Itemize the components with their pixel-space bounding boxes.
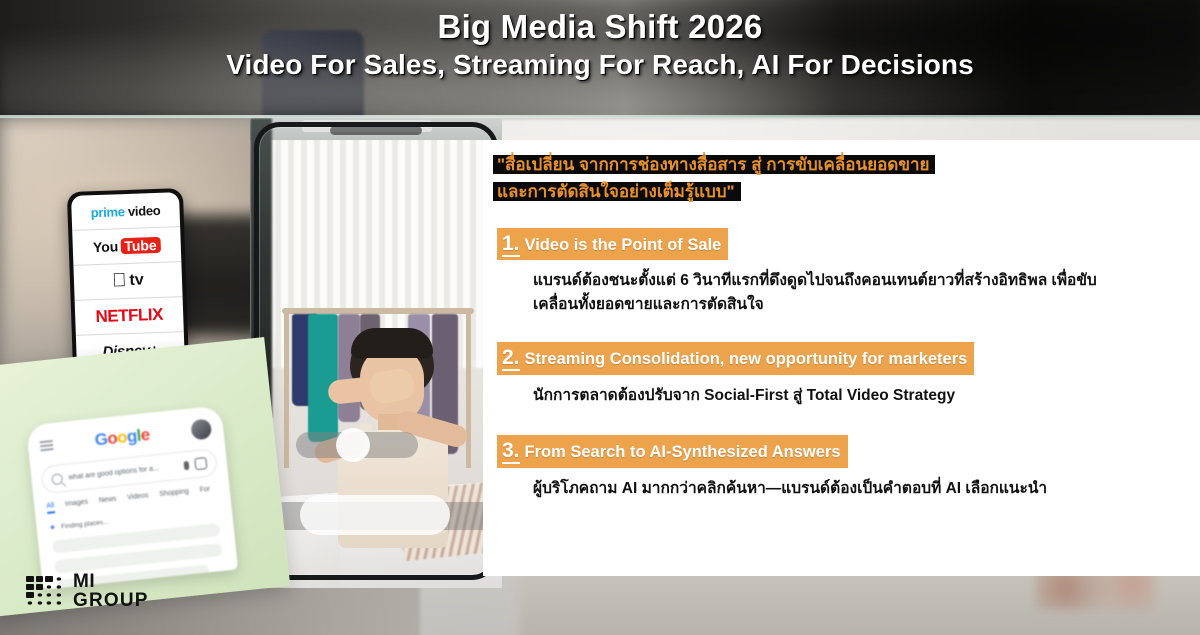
apple-tv-logo-text: tv xyxy=(129,271,144,289)
google-search-phone: Google what are good options for a... Al… xyxy=(26,405,238,590)
header-text-block: Big Media Shift 2026 Video For Sales, St… xyxy=(0,0,1200,81)
point-1-heading-text: Video is the Point of Sale xyxy=(525,236,722,254)
point-1-body: แบรนด์ต้องชนะตั้งแต่ 6 วินาทีแรกที่ดึงดู… xyxy=(533,269,1133,316)
point-3-heading-text: From Search to AI-Synthesized Answers xyxy=(525,443,841,461)
logo-cell xyxy=(56,586,60,589)
logo-cell xyxy=(37,602,41,605)
point-item-2: 2.Streaming Consolidation, new opportuni… xyxy=(497,342,1200,407)
tab-videos[interactable]: Videos xyxy=(127,492,149,505)
youtube-logo-text-a: You xyxy=(93,238,119,255)
tab-all[interactable]: All xyxy=(46,502,55,514)
logo-cell xyxy=(56,578,60,581)
point-1-heading: 1.Video is the Point of Sale xyxy=(497,228,728,261)
search-icon xyxy=(51,473,63,485)
youtube-logo: YouTube xyxy=(93,237,161,255)
logo-cell xyxy=(47,602,51,605)
search-query-text: what are good options for a... xyxy=(68,463,178,481)
point-3-number: 3. xyxy=(502,439,520,464)
logo-cell xyxy=(36,576,44,582)
page-subtitle: Video For Sales, Streaming For Reach, AI… xyxy=(0,49,1200,81)
brand-line-2: GROUP xyxy=(73,591,149,610)
point-2-number: 2. xyxy=(502,346,520,371)
streaming-logos-screen: prime video YouTube tv NETFLIX Disney+ xyxy=(71,192,185,370)
point-1-number: 1. xyxy=(502,232,520,257)
logo-prime-video: prime video xyxy=(71,192,180,231)
mi-group-logo-mark xyxy=(26,576,62,606)
apple-tv-logo: tv xyxy=(112,269,144,292)
content-panel: "สื่อเปลี่ยน จากการช่องทางสื่อสาร สู่ กา… xyxy=(483,140,1200,576)
logo-apple-tv: tv xyxy=(73,262,182,301)
prime-video-logo: prime video xyxy=(90,202,160,219)
brand-line-1: MI xyxy=(73,572,149,591)
google-logo-letter: e xyxy=(140,425,151,445)
page-title: Big Media Shift 2026 xyxy=(0,8,1200,46)
avatar[interactable] xyxy=(190,418,212,440)
microphone-icon[interactable] xyxy=(183,460,189,469)
point-2-heading-text: Streaming Consolidation, new opportunity… xyxy=(525,350,968,368)
quote-line-1: "สื่อเปลี่ยน จากการช่องทางสื่อสาร สู่ กา… xyxy=(497,155,929,174)
quote-line-2: และการตัดสินใจอย่างเต็มรู้แบบ" xyxy=(497,182,735,201)
mi-group-logo-text: MI GROUP xyxy=(73,572,149,611)
apple-icon:  xyxy=(112,270,127,292)
logo-cell xyxy=(28,602,32,605)
logo-cell xyxy=(36,584,44,590)
header-divider xyxy=(0,115,1200,118)
prime-video-logo-text-b: video xyxy=(124,202,160,218)
logo-youtube: YouTube xyxy=(72,227,181,266)
tab-news[interactable]: News xyxy=(99,496,118,509)
tab-for[interactable]: For xyxy=(199,486,211,498)
logo-cell xyxy=(47,594,51,597)
netflix-logo: NETFLIX xyxy=(95,305,163,327)
point-3-heading: 3.From Search to AI-Synthesized Answers xyxy=(497,435,848,468)
sparkle-icon: ✦ xyxy=(48,522,57,534)
spacer xyxy=(483,316,1200,342)
point-2-heading: 2.Streaming Consolidation, new opportuni… xyxy=(497,342,974,375)
highlight-quote: "สื่อเปลี่ยน จากการช่องทางสื่อสาร สู่ กา… xyxy=(497,152,929,206)
logo-cell xyxy=(56,602,60,605)
logo-cell xyxy=(26,592,34,598)
point-2-body: นักการตลาดต้องปรับจาก Social-First สู่ T… xyxy=(533,384,1133,408)
mi-group-logo: MI GROUP xyxy=(26,572,149,611)
google-logo: Google xyxy=(94,425,151,451)
hamburger-menu-icon[interactable] xyxy=(40,439,54,451)
spacer xyxy=(483,206,1200,228)
point-item-3: 3.From Search to AI-Synthesized Answers … xyxy=(497,435,1200,500)
logo-cell xyxy=(56,594,60,597)
device-frame-overlay xyxy=(254,122,498,580)
prime-video-logo-text-a: prime xyxy=(90,204,124,220)
point-item-1: 1.Video is the Point of Sale แบรนด์ต้องช… xyxy=(497,228,1200,317)
device-notch xyxy=(330,126,422,135)
logo-cell xyxy=(26,576,34,582)
spacer xyxy=(483,407,1200,435)
logo-cell xyxy=(45,576,53,582)
logo-cell xyxy=(37,594,41,597)
point-3-body: ผู้บริโภคถาม AI มากกว่าคลิกค้นหา—แบรนด์ต… xyxy=(533,477,1133,501)
slide-root: prime video YouTube tv NETFLIX Disney+ … xyxy=(0,0,1200,635)
youtube-logo-text-b: Tube xyxy=(120,237,161,254)
logo-netflix: NETFLIX xyxy=(75,297,184,336)
lens-camera-icon[interactable] xyxy=(194,457,207,470)
logo-cell xyxy=(47,586,51,589)
ai-status-text: Finding places... xyxy=(61,519,109,531)
logo-cell xyxy=(26,584,34,590)
